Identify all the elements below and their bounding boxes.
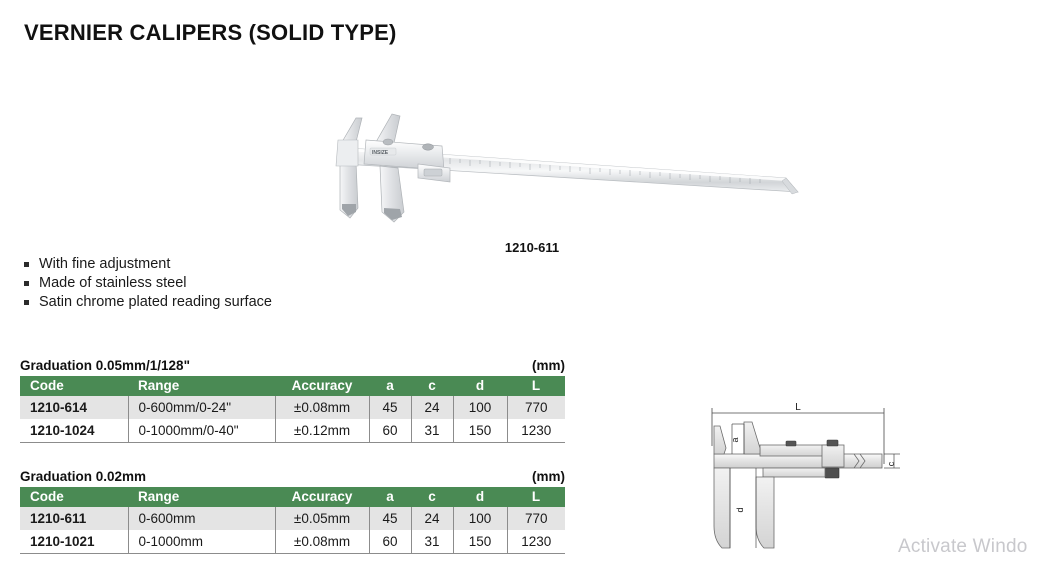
list-item: With fine adjustment xyxy=(22,255,272,274)
column-header-l: L xyxy=(507,376,565,396)
spec-block-header: Graduation 0.02mm (mm) xyxy=(20,469,565,484)
graduation-label: Graduation 0.05mm/1/128" xyxy=(20,358,190,373)
unit-label: (mm) xyxy=(532,469,565,484)
cell-c: 24 xyxy=(411,396,453,419)
svg-text:INSIZE: INSIZE xyxy=(372,150,389,156)
list-item: Satin chrome plated reading surface xyxy=(22,293,272,312)
dimension-label-c: c xyxy=(886,461,896,466)
cell-d: 100 xyxy=(453,396,507,419)
cell-d: 150 xyxy=(453,530,507,554)
cell-l: 1230 xyxy=(507,419,565,443)
cell-l: 770 xyxy=(507,396,565,419)
cell-range: 0-1000mm xyxy=(128,530,275,554)
column-header-accuracy: Accuracy xyxy=(275,376,369,396)
page-title: VERNIER CALIPERS (SOLID TYPE) xyxy=(24,20,397,46)
feature-label: Made of stainless steel xyxy=(39,275,187,291)
feature-label: Satin chrome plated reading surface xyxy=(39,294,272,310)
bullet-square-icon xyxy=(24,300,29,305)
spec-table: Code Range Accuracy a c d L 1210-611 0-6… xyxy=(20,487,565,554)
bullet-square-icon xyxy=(24,262,29,267)
dimension-label-a: a xyxy=(730,437,740,442)
list-item: Made of stainless steel xyxy=(22,274,272,293)
column-header-code: Code xyxy=(20,376,128,396)
column-header-code: Code xyxy=(20,487,128,507)
cell-accuracy: ±0.08mm xyxy=(275,530,369,554)
spec-block-graduation-005: Graduation 0.05mm/1/128" (mm) Code Range… xyxy=(20,358,565,443)
table-header-row: Code Range Accuracy a c d L xyxy=(20,376,565,396)
column-header-l: L xyxy=(507,487,565,507)
bullet-square-icon xyxy=(24,281,29,286)
spec-block-graduation-002: Graduation 0.02mm (mm) Code Range Accura… xyxy=(20,469,565,554)
product-caption: 1210-611 xyxy=(462,240,602,255)
feature-list: With fine adjustment Made of stainless s… xyxy=(22,255,272,312)
spec-block-header: Graduation 0.05mm/1/128" (mm) xyxy=(20,358,565,373)
column-header-a: a xyxy=(369,487,411,507)
cell-range: 0-1000mm/0-40" xyxy=(128,419,275,443)
cell-c: 24 xyxy=(411,507,453,530)
graduation-label: Graduation 0.02mm xyxy=(20,469,146,484)
dimension-label-d: d xyxy=(735,507,745,512)
cell-code: 1210-1021 xyxy=(20,530,128,554)
column-header-range: Range xyxy=(128,487,275,507)
cell-a: 60 xyxy=(369,530,411,554)
column-header-accuracy: Accuracy xyxy=(275,487,369,507)
cell-c: 31 xyxy=(411,419,453,443)
table-header-row: Code Range Accuracy a c d L xyxy=(20,487,565,507)
table-row: 1210-611 0-600mm ±0.05mm 45 24 100 770 xyxy=(20,507,565,530)
cell-range: 0-600mm xyxy=(128,507,275,530)
cell-a: 60 xyxy=(369,419,411,443)
table-row: 1210-614 0-600mm/0-24" ±0.08mm 45 24 100… xyxy=(20,396,565,419)
windows-activation-watermark: Activate Windo xyxy=(898,536,1028,558)
vernier-caliper-photo: INSIZE xyxy=(300,112,812,230)
column-header-d: d xyxy=(453,487,507,507)
dimension-label-L: L xyxy=(795,402,801,413)
unit-label: (mm) xyxy=(532,358,565,373)
cell-l: 770 xyxy=(507,507,565,530)
cell-c: 31 xyxy=(411,530,453,554)
feature-label: With fine adjustment xyxy=(39,256,170,272)
column-header-range: Range xyxy=(128,376,275,396)
cell-d: 100 xyxy=(453,507,507,530)
spec-table: Code Range Accuracy a c d L 1210-614 0-6… xyxy=(20,376,565,443)
column-header-d: d xyxy=(453,376,507,396)
cell-code: 1210-1024 xyxy=(20,419,128,443)
column-header-c: c xyxy=(411,376,453,396)
cell-accuracy: ±0.12mm xyxy=(275,419,369,443)
cell-a: 45 xyxy=(369,396,411,419)
column-header-a: a xyxy=(369,376,411,396)
cell-d: 150 xyxy=(453,419,507,443)
cell-l: 1230 xyxy=(507,530,565,554)
cell-accuracy: ±0.08mm xyxy=(275,396,369,419)
cell-a: 45 xyxy=(369,507,411,530)
cell-accuracy: ±0.05mm xyxy=(275,507,369,530)
cell-range: 0-600mm/0-24" xyxy=(128,396,275,419)
table-row: 1210-1024 0-1000mm/0-40" ±0.12mm 60 31 1… xyxy=(20,419,565,443)
cell-code: 1210-614 xyxy=(20,396,128,419)
cell-code: 1210-611 xyxy=(20,507,128,530)
column-header-c: c xyxy=(411,487,453,507)
table-row: 1210-1021 0-1000mm ±0.08mm 60 31 150 123… xyxy=(20,530,565,554)
